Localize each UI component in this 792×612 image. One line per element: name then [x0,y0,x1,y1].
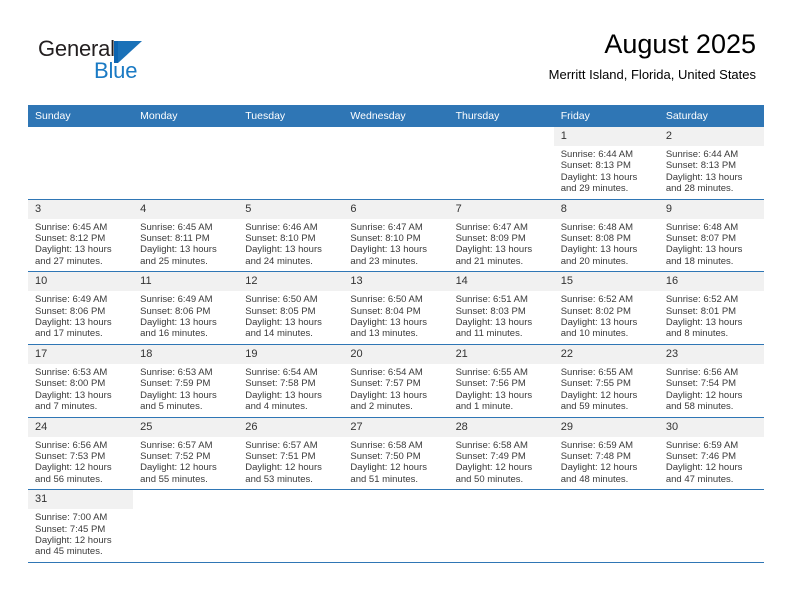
calendar-day-cell[interactable]: 28Sunrise: 6:58 AMSunset: 7:49 PMDayligh… [449,417,554,490]
day-cell-content: 5Sunrise: 6:46 AMSunset: 8:10 PMDaylight… [238,200,343,272]
sun-info-sunset: Sunset: 7:53 PM [35,451,127,462]
sun-info-sunset: Sunset: 7:45 PM [35,524,127,535]
sun-info-sunrise: Sunrise: 6:48 AM [666,222,758,233]
table-bottom-rule [28,562,764,563]
sun-info-daylight2: and 2 minutes. [350,401,442,412]
sun-info: Sunrise: 6:48 AMSunset: 8:07 PMDaylight:… [659,219,764,272]
sun-info-sunrise: Sunrise: 6:55 AM [561,367,653,378]
calendar-cell-empty [659,490,764,562]
sun-info-sunset: Sunset: 8:08 PM [561,233,653,244]
sun-info-sunset: Sunset: 8:02 PM [561,306,653,317]
sun-info-sunset: Sunset: 7:49 PM [456,451,548,462]
day-cell-content [449,490,554,548]
day-cell-content: 29Sunrise: 6:59 AMSunset: 7:48 PMDayligh… [554,418,659,490]
day-number [343,490,448,509]
day-cell-content: 8Sunrise: 6:48 AMSunset: 8:08 PMDaylight… [554,200,659,272]
sun-info-daylight2: and 56 minutes. [35,474,127,485]
sun-info: Sunrise: 6:46 AMSunset: 8:10 PMDaylight:… [238,219,343,272]
sun-info-daylight2: and 11 minutes. [456,328,548,339]
sun-info-sunrise: Sunrise: 6:47 AM [456,222,548,233]
sun-info-daylight2: and 7 minutes. [35,401,127,412]
sun-info-daylight2: and 47 minutes. [666,474,758,485]
day-number: 5 [238,200,343,219]
general-blue-logo[interactable]: General Blue [38,36,218,86]
day-cell-content: 2Sunrise: 6:44 AMSunset: 8:13 PMDaylight… [659,127,764,199]
day-number [449,127,554,146]
calendar-cell-empty [343,490,448,562]
calendar-day-cell[interactable]: 24Sunrise: 6:56 AMSunset: 7:53 PMDayligh… [28,417,133,490]
sun-info-daylight2: and 20 minutes. [561,256,653,267]
day-number: 11 [133,272,238,291]
sun-info-daylight2: and 17 minutes. [35,328,127,339]
sun-info-sunrise: Sunrise: 6:58 AM [456,440,548,451]
sun-info: Sunrise: 6:44 AMSunset: 8:13 PMDaylight:… [659,146,764,199]
sun-info: Sunrise: 6:49 AMSunset: 8:06 PMDaylight:… [133,291,238,344]
day-cell-content [343,127,448,185]
sun-info-sunset: Sunset: 8:06 PM [140,306,232,317]
sun-info: Sunrise: 6:54 AMSunset: 7:58 PMDaylight:… [238,364,343,417]
calendar-day-cell[interactable]: 20Sunrise: 6:54 AMSunset: 7:57 PMDayligh… [343,344,448,417]
day-cell-content: 28Sunrise: 6:58 AMSunset: 7:49 PMDayligh… [449,418,554,490]
sun-info-sunset: Sunset: 7:54 PM [666,378,758,389]
day-number [343,127,448,146]
sun-info-daylight1: Daylight: 12 hours [245,462,337,473]
day-number: 9 [659,200,764,219]
sun-info: Sunrise: 6:51 AMSunset: 8:03 PMDaylight:… [449,291,554,344]
sun-info-daylight2: and 8 minutes. [666,328,758,339]
calendar-header-row: SundayMondayTuesdayWednesdayThursdayFrid… [28,105,764,127]
day-cell-content: 24Sunrise: 6:56 AMSunset: 7:53 PMDayligh… [28,418,133,490]
weekday-header-friday: Friday [554,105,659,127]
sun-info-sunset: Sunset: 7:51 PM [245,451,337,462]
sun-info-daylight2: and 53 minutes. [245,474,337,485]
sun-info-daylight2: and 4 minutes. [245,401,337,412]
sun-info-daylight1: Daylight: 12 hours [140,462,232,473]
day-cell-content: 7Sunrise: 6:47 AMSunset: 8:09 PMDaylight… [449,200,554,272]
day-number: 18 [133,345,238,364]
day-cell-content: 21Sunrise: 6:55 AMSunset: 7:56 PMDayligh… [449,345,554,417]
day-number: 8 [554,200,659,219]
sun-info-daylight2: and 48 minutes. [561,474,653,485]
sun-info-daylight2: and 51 minutes. [350,474,442,485]
sun-info: Sunrise: 6:54 AMSunset: 7:57 PMDaylight:… [343,364,448,417]
sun-info-sunrise: Sunrise: 6:59 AM [561,440,653,451]
sun-info: Sunrise: 6:48 AMSunset: 8:08 PMDaylight:… [554,219,659,272]
day-cell-content: 31Sunrise: 7:00 AMSunset: 7:45 PMDayligh… [28,490,133,562]
sun-info: Sunrise: 6:50 AMSunset: 8:05 PMDaylight:… [238,291,343,344]
sun-info-daylight2: and 21 minutes. [456,256,548,267]
sun-info: Sunrise: 6:58 AMSunset: 7:49 PMDaylight:… [449,437,554,490]
sun-info: Sunrise: 6:55 AMSunset: 7:56 PMDaylight:… [449,364,554,417]
sun-info-daylight1: Daylight: 13 hours [456,244,548,255]
day-cell-content: 16Sunrise: 6:52 AMSunset: 8:01 PMDayligh… [659,272,764,344]
sun-info-daylight2: and 27 minutes. [35,256,127,267]
calendar-day-cell[interactable]: 19Sunrise: 6:54 AMSunset: 7:58 PMDayligh… [238,344,343,417]
calendar-day-cell[interactable]: 3Sunrise: 6:45 AMSunset: 8:12 PMDaylight… [28,199,133,272]
calendar-cell-empty [554,490,659,562]
sun-info-sunrise: Sunrise: 6:45 AM [35,222,127,233]
sun-info-sunset: Sunset: 8:03 PM [456,306,548,317]
sun-info-daylight1: Daylight: 13 hours [245,244,337,255]
calendar-body: 1Sunrise: 6:44 AMSunset: 8:13 PMDaylight… [28,127,764,562]
day-number: 28 [449,418,554,437]
sun-info-sunrise: Sunrise: 6:49 AM [140,294,232,305]
day-cell-content: 12Sunrise: 6:50 AMSunset: 8:05 PMDayligh… [238,272,343,344]
day-number: 14 [449,272,554,291]
sun-info: Sunrise: 6:50 AMSunset: 8:04 PMDaylight:… [343,291,448,344]
day-cell-content: 22Sunrise: 6:55 AMSunset: 7:55 PMDayligh… [554,345,659,417]
sun-info: Sunrise: 6:57 AMSunset: 7:52 PMDaylight:… [133,437,238,490]
day-number: 26 [238,418,343,437]
calendar-cell-empty [28,127,133,199]
weekday-header-saturday: Saturday [659,105,764,127]
sun-info-sunrise: Sunrise: 6:49 AM [35,294,127,305]
location-subtitle: Merritt Island, Florida, United States [549,66,756,84]
sun-info-sunrise: Sunrise: 6:57 AM [140,440,232,451]
sun-info-daylight1: Daylight: 13 hours [140,317,232,328]
day-number: 19 [238,345,343,364]
day-number: 27 [343,418,448,437]
sun-info-daylight2: and 28 minutes. [666,183,758,194]
sun-info-sunset: Sunset: 8:07 PM [666,233,758,244]
calendar-week-row: 17Sunrise: 6:53 AMSunset: 8:00 PMDayligh… [28,344,764,417]
calendar-week-row: 24Sunrise: 6:56 AMSunset: 7:53 PMDayligh… [28,417,764,490]
sun-info: Sunrise: 6:59 AMSunset: 7:46 PMDaylight:… [659,437,764,490]
sun-info-sunset: Sunset: 8:11 PM [140,233,232,244]
sun-info-daylight2: and 58 minutes. [666,401,758,412]
calendar-day-cell[interactable]: 30Sunrise: 6:59 AMSunset: 7:46 PMDayligh… [659,417,764,490]
sun-info-daylight1: Daylight: 13 hours [35,317,127,328]
sun-info-sunrise: Sunrise: 6:55 AM [456,367,548,378]
sun-info-daylight1: Daylight: 13 hours [561,172,653,183]
sun-info-sunset: Sunset: 8:13 PM [666,160,758,171]
sun-info-daylight1: Daylight: 13 hours [350,317,442,328]
sun-info-sunset: Sunset: 7:55 PM [561,378,653,389]
sun-info-sunset: Sunset: 7:58 PM [245,378,337,389]
day-cell-content: 26Sunrise: 6:57 AMSunset: 7:51 PMDayligh… [238,418,343,490]
day-cell-content: 17Sunrise: 6:53 AMSunset: 8:00 PMDayligh… [28,345,133,417]
sun-info-sunrise: Sunrise: 6:53 AM [35,367,127,378]
sun-info-sunset: Sunset: 7:56 PM [456,378,548,389]
sun-info-daylight1: Daylight: 13 hours [245,390,337,401]
day-number: 13 [343,272,448,291]
day-number: 3 [28,200,133,219]
sun-info-sunset: Sunset: 7:52 PM [140,451,232,462]
weekday-header-row: SundayMondayTuesdayWednesdayThursdayFrid… [28,105,764,127]
sun-info-sunrise: Sunrise: 6:56 AM [35,440,127,451]
sun-info-daylight1: Daylight: 12 hours [666,462,758,473]
sun-info-sunset: Sunset: 7:48 PM [561,451,653,462]
day-number: 16 [659,272,764,291]
calendar-day-cell[interactable]: 2Sunrise: 6:44 AMSunset: 8:13 PMDaylight… [659,127,764,199]
sun-info-daylight2: and 59 minutes. [561,401,653,412]
sun-info-daylight1: Daylight: 13 hours [666,244,758,255]
day-cell-content: 6Sunrise: 6:47 AMSunset: 8:10 PMDaylight… [343,200,448,272]
day-number [659,490,764,509]
day-cell-content: 30Sunrise: 6:59 AMSunset: 7:46 PMDayligh… [659,418,764,490]
sun-info-sunrise: Sunrise: 6:51 AM [456,294,548,305]
day-number: 10 [28,272,133,291]
sun-info: Sunrise: 6:45 AMSunset: 8:11 PMDaylight:… [133,219,238,272]
sun-info: Sunrise: 6:52 AMSunset: 8:02 PMDaylight:… [554,291,659,344]
weekday-header-sunday: Sunday [28,105,133,127]
title-block: August 2025 Merritt Island, Florida, Uni… [549,28,756,84]
sun-info-sunset: Sunset: 8:10 PM [350,233,442,244]
day-cell-content [133,127,238,185]
sun-info-sunset: Sunset: 8:00 PM [35,378,127,389]
day-cell-content: 27Sunrise: 6:58 AMSunset: 7:50 PMDayligh… [343,418,448,490]
sun-info: Sunrise: 6:59 AMSunset: 7:48 PMDaylight:… [554,437,659,490]
sun-info-daylight1: Daylight: 12 hours [561,462,653,473]
calendar-day-cell[interactable]: 4Sunrise: 6:45 AMSunset: 8:11 PMDaylight… [133,199,238,272]
sun-info-sunset: Sunset: 8:10 PM [245,233,337,244]
day-number: 6 [343,200,448,219]
sun-info-sunrise: Sunrise: 6:50 AM [245,294,337,305]
sun-info-daylight1: Daylight: 12 hours [350,462,442,473]
sun-info-sunset: Sunset: 7:59 PM [140,378,232,389]
calendar-cell-empty [238,490,343,562]
day-cell-content: 4Sunrise: 6:45 AMSunset: 8:11 PMDaylight… [133,200,238,272]
calendar-day-cell[interactable]: 27Sunrise: 6:58 AMSunset: 7:50 PMDayligh… [343,417,448,490]
sun-info-sunrise: Sunrise: 6:44 AM [561,149,653,160]
day-number: 20 [343,345,448,364]
day-cell-content: 25Sunrise: 6:57 AMSunset: 7:52 PMDayligh… [133,418,238,490]
sun-info-daylight1: Daylight: 12 hours [666,390,758,401]
sun-info-daylight1: Daylight: 13 hours [245,317,337,328]
sun-info-daylight2: and 1 minute. [456,401,548,412]
calendar-day-cell[interactable]: 14Sunrise: 6:51 AMSunset: 8:03 PMDayligh… [449,272,554,345]
sun-info-daylight1: Daylight: 13 hours [35,390,127,401]
day-cell-content: 1Sunrise: 6:44 AMSunset: 8:13 PMDaylight… [554,127,659,199]
sun-info-sunrise: Sunrise: 6:53 AM [140,367,232,378]
day-number: 4 [133,200,238,219]
sun-info-sunrise: Sunrise: 6:59 AM [666,440,758,451]
weekday-header-monday: Monday [133,105,238,127]
sun-info: Sunrise: 6:58 AMSunset: 7:50 PMDaylight:… [343,437,448,490]
sun-info-sunset: Sunset: 7:46 PM [666,451,758,462]
sun-info-sunrise: Sunrise: 6:47 AM [350,222,442,233]
sun-info-sunrise: Sunrise: 6:56 AM [666,367,758,378]
calendar-day-cell[interactable]: 16Sunrise: 6:52 AMSunset: 8:01 PMDayligh… [659,272,764,345]
day-number: 1 [554,127,659,146]
sun-info-daylight1: Daylight: 13 hours [666,172,758,183]
sun-info-sunrise: Sunrise: 6:50 AM [350,294,442,305]
day-number [238,127,343,146]
calendar-day-cell[interactable]: 26Sunrise: 6:57 AMSunset: 7:51 PMDayligh… [238,417,343,490]
sun-info-sunset: Sunset: 8:13 PM [561,160,653,171]
calendar-day-cell[interactable]: 15Sunrise: 6:52 AMSunset: 8:02 PMDayligh… [554,272,659,345]
sun-info: Sunrise: 6:44 AMSunset: 8:13 PMDaylight:… [554,146,659,199]
sun-info-daylight1: Daylight: 12 hours [456,462,548,473]
day-cell-content [659,490,764,548]
day-cell-content: 23Sunrise: 6:56 AMSunset: 7:54 PMDayligh… [659,345,764,417]
calendar-day-cell[interactable]: 12Sunrise: 6:50 AMSunset: 8:05 PMDayligh… [238,272,343,345]
day-cell-content [449,127,554,185]
sun-info-sunrise: Sunrise: 6:44 AM [666,149,758,160]
calendar-day-cell[interactable]: 1Sunrise: 6:44 AMSunset: 8:13 PMDaylight… [554,127,659,199]
sun-info-sunset: Sunset: 8:04 PM [350,306,442,317]
calendar-week-row: 31Sunrise: 7:00 AMSunset: 7:45 PMDayligh… [28,490,764,562]
sun-info: Sunrise: 6:55 AMSunset: 7:55 PMDaylight:… [554,364,659,417]
calendar-day-cell[interactable]: 10Sunrise: 6:49 AMSunset: 8:06 PMDayligh… [28,272,133,345]
day-cell-content: 9Sunrise: 6:48 AMSunset: 8:07 PMDaylight… [659,200,764,272]
sun-info-sunrise: Sunrise: 6:57 AM [245,440,337,451]
sun-info-daylight1: Daylight: 13 hours [666,317,758,328]
calendar-cell-empty [449,490,554,562]
calendar-day-cell[interactable]: 21Sunrise: 6:55 AMSunset: 7:56 PMDayligh… [449,344,554,417]
sun-info-sunset: Sunset: 7:50 PM [350,451,442,462]
day-cell-content: 20Sunrise: 6:54 AMSunset: 7:57 PMDayligh… [343,345,448,417]
day-number [238,490,343,509]
calendar-day-cell[interactable]: 8Sunrise: 6:48 AMSunset: 8:08 PMDaylight… [554,199,659,272]
calendar-day-cell[interactable]: 9Sunrise: 6:48 AMSunset: 8:07 PMDaylight… [659,199,764,272]
day-number: 21 [449,345,554,364]
day-cell-content [343,490,448,548]
sun-info: Sunrise: 6:47 AMSunset: 8:10 PMDaylight:… [343,219,448,272]
sun-info-daylight2: and 24 minutes. [245,256,337,267]
sun-info-sunrise: Sunrise: 7:00 AM [35,512,127,523]
calendar-day-cell[interactable]: 5Sunrise: 6:46 AMSunset: 8:10 PMDaylight… [238,199,343,272]
sun-info-daylight1: Daylight: 12 hours [35,535,127,546]
day-cell-content: 15Sunrise: 6:52 AMSunset: 8:02 PMDayligh… [554,272,659,344]
sun-info-daylight2: and 5 minutes. [140,401,232,412]
calendar-cell-empty [343,127,448,199]
sun-info: Sunrise: 7:00 AMSunset: 7:45 PMDaylight:… [28,509,133,562]
sun-info: Sunrise: 6:56 AMSunset: 7:53 PMDaylight:… [28,437,133,490]
day-number: 24 [28,418,133,437]
sun-info-daylight1: Daylight: 13 hours [561,317,653,328]
calendar-week-row: 3Sunrise: 6:45 AMSunset: 8:12 PMDaylight… [28,199,764,272]
calendar-table: SundayMondayTuesdayWednesdayThursdayFrid… [28,105,764,562]
sun-info-daylight2: and 16 minutes. [140,328,232,339]
day-cell-content: 10Sunrise: 6:49 AMSunset: 8:06 PMDayligh… [28,272,133,344]
sun-info-sunset: Sunset: 8:06 PM [35,306,127,317]
sun-info-daylight2: and 50 minutes. [456,474,548,485]
sun-info-sunrise: Sunrise: 6:48 AM [561,222,653,233]
sun-info-daylight2: and 45 minutes. [35,546,127,557]
calendar-day-cell[interactable]: 17Sunrise: 6:53 AMSunset: 8:00 PMDayligh… [28,344,133,417]
calendar-week-row: 10Sunrise: 6:49 AMSunset: 8:06 PMDayligh… [28,272,764,345]
calendar-cell-empty [238,127,343,199]
day-cell-content: 13Sunrise: 6:50 AMSunset: 8:04 PMDayligh… [343,272,448,344]
sun-info-daylight2: and 13 minutes. [350,328,442,339]
sun-info-daylight1: Daylight: 13 hours [35,244,127,255]
day-number: 17 [28,345,133,364]
sun-info: Sunrise: 6:56 AMSunset: 7:54 PMDaylight:… [659,364,764,417]
sun-info-sunset: Sunset: 8:05 PM [245,306,337,317]
calendar-day-cell[interactable]: 13Sunrise: 6:50 AMSunset: 8:04 PMDayligh… [343,272,448,345]
day-number: 12 [238,272,343,291]
day-cell-content [28,127,133,185]
day-number: 2 [659,127,764,146]
sun-info-daylight2: and 14 minutes. [245,328,337,339]
sun-info: Sunrise: 6:45 AMSunset: 8:12 PMDaylight:… [28,219,133,272]
sun-info-sunset: Sunset: 8:01 PM [666,306,758,317]
day-cell-content: 11Sunrise: 6:49 AMSunset: 8:06 PMDayligh… [133,272,238,344]
sun-info-sunset: Sunset: 8:12 PM [35,233,127,244]
weekday-header-wednesday: Wednesday [343,105,448,127]
weekday-header-thursday: Thursday [449,105,554,127]
sun-info-sunrise: Sunrise: 6:46 AM [245,222,337,233]
sun-info-daylight2: and 18 minutes. [666,256,758,267]
calendar-day-cell[interactable]: 25Sunrise: 6:57 AMSunset: 7:52 PMDayligh… [133,417,238,490]
sun-info-daylight1: Daylight: 13 hours [350,244,442,255]
day-number: 29 [554,418,659,437]
day-cell-content: 18Sunrise: 6:53 AMSunset: 7:59 PMDayligh… [133,345,238,417]
sun-info-daylight1: Daylight: 13 hours [456,390,548,401]
calendar-day-cell[interactable]: 23Sunrise: 6:56 AMSunset: 7:54 PMDayligh… [659,344,764,417]
sun-info-daylight1: Daylight: 13 hours [140,390,232,401]
calendar-day-cell[interactable]: 31Sunrise: 7:00 AMSunset: 7:45 PMDayligh… [28,490,133,562]
sun-info-daylight1: Daylight: 13 hours [456,317,548,328]
calendar-cell-empty [133,127,238,199]
calendar-page: General Blue August 2025 Merritt Island,… [0,0,792,612]
day-number: 15 [554,272,659,291]
calendar-day-cell[interactable]: 11Sunrise: 6:49 AMSunset: 8:06 PMDayligh… [133,272,238,345]
day-cell-content [238,127,343,185]
calendar-day-cell[interactable]: 22Sunrise: 6:55 AMSunset: 7:55 PMDayligh… [554,344,659,417]
sun-info-daylight1: Daylight: 12 hours [561,390,653,401]
sun-info-daylight2: and 29 minutes. [561,183,653,194]
sun-info-daylight1: Daylight: 13 hours [350,390,442,401]
day-cell-content [133,490,238,548]
sun-info-daylight1: Daylight: 13 hours [140,244,232,255]
sun-info-sunrise: Sunrise: 6:54 AM [350,367,442,378]
calendar-day-cell[interactable]: 6Sunrise: 6:47 AMSunset: 8:10 PMDaylight… [343,199,448,272]
sun-info: Sunrise: 6:47 AMSunset: 8:09 PMDaylight:… [449,219,554,272]
calendar-day-cell[interactable]: 29Sunrise: 6:59 AMSunset: 7:48 PMDayligh… [554,417,659,490]
day-number: 25 [133,418,238,437]
day-number: 23 [659,345,764,364]
weekday-header-tuesday: Tuesday [238,105,343,127]
day-number: 30 [659,418,764,437]
sun-info: Sunrise: 6:53 AMSunset: 8:00 PMDaylight:… [28,364,133,417]
logo-secondary-text: Blue [94,58,137,84]
sun-info-sunset: Sunset: 7:57 PM [350,378,442,389]
sun-info-daylight1: Daylight: 12 hours [35,462,127,473]
sun-info-daylight2: and 10 minutes. [561,328,653,339]
sun-info-sunrise: Sunrise: 6:58 AM [350,440,442,451]
sun-info-daylight2: and 23 minutes. [350,256,442,267]
day-cell-content: 14Sunrise: 6:51 AMSunset: 8:03 PMDayligh… [449,272,554,344]
day-number [28,127,133,146]
day-cell-content [554,490,659,548]
calendar-week-row: 1Sunrise: 6:44 AMSunset: 8:13 PMDaylight… [28,127,764,199]
sun-info: Sunrise: 6:52 AMSunset: 8:01 PMDaylight:… [659,291,764,344]
calendar-day-cell[interactable]: 7Sunrise: 6:47 AMSunset: 8:09 PMDaylight… [449,199,554,272]
sun-info-sunrise: Sunrise: 6:45 AM [140,222,232,233]
page-header: General Blue August 2025 Merritt Island,… [0,0,792,100]
sun-info-sunrise: Sunrise: 6:52 AM [561,294,653,305]
sun-info-sunrise: Sunrise: 6:54 AM [245,367,337,378]
day-number: 22 [554,345,659,364]
day-number: 31 [28,490,133,509]
sun-info: Sunrise: 6:49 AMSunset: 8:06 PMDaylight:… [28,291,133,344]
calendar-cell-empty [449,127,554,199]
day-cell-content: 19Sunrise: 6:54 AMSunset: 7:58 PMDayligh… [238,345,343,417]
day-number [133,490,238,509]
sun-info-daylight2: and 25 minutes. [140,256,232,267]
calendar-day-cell[interactable]: 18Sunrise: 6:53 AMSunset: 7:59 PMDayligh… [133,344,238,417]
sun-info: Sunrise: 6:53 AMSunset: 7:59 PMDaylight:… [133,364,238,417]
sun-info-sunset: Sunset: 8:09 PM [456,233,548,244]
day-number [554,490,659,509]
day-number [449,490,554,509]
sun-info-sunrise: Sunrise: 6:52 AM [666,294,758,305]
sun-info-daylight2: and 55 minutes. [140,474,232,485]
calendar-container: SundayMondayTuesdayWednesdayThursdayFrid… [28,105,764,563]
day-cell-content: 3Sunrise: 6:45 AMSunset: 8:12 PMDaylight… [28,200,133,272]
